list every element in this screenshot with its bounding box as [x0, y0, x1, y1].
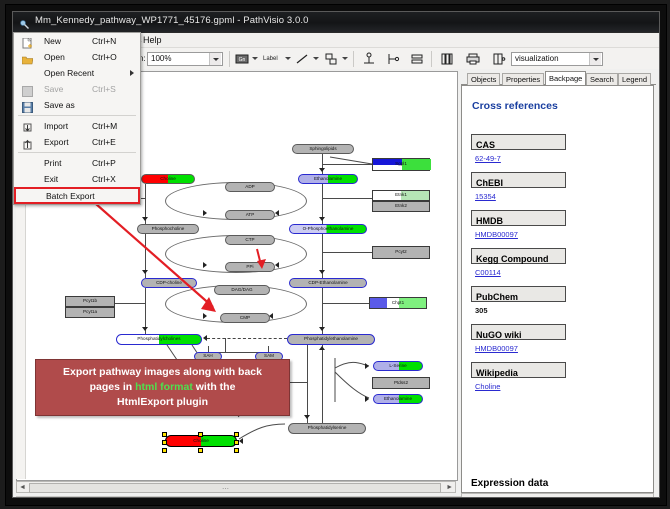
arrow-icon	[239, 438, 243, 444]
save-as-icon	[22, 100, 33, 111]
sidepanel-icon[interactable]	[491, 51, 507, 67]
datanode-dropdown-icon[interactable]	[252, 57, 258, 60]
screenshot-root: Mm_Kennedy_pathway_WP1771_45176.gpml - P…	[0, 0, 670, 509]
shape-tool-icon[interactable]	[323, 51, 339, 67]
menu-help[interactable]: Help	[140, 34, 165, 46]
xref-header-pubchem: PubChem	[471, 286, 566, 302]
line-dropdown-icon[interactable]	[313, 57, 319, 60]
menu-item-export[interactable]: Export Ctrl+E	[14, 134, 140, 150]
menu-separator	[18, 115, 136, 116]
metabolite-node[interactable]: O-Phosphoethanolamine	[289, 224, 367, 234]
align-top-icon[interactable]	[361, 51, 377, 67]
arrow-icon	[365, 363, 369, 369]
metabolite-node[interactable]: CTP	[225, 235, 275, 245]
new-file-icon	[22, 36, 33, 47]
backpage-content: Cross references CAS 62-49-7 ChEBI 15354…	[461, 85, 654, 493]
svg-text:Gn: Gn	[239, 57, 246, 63]
expression-data-heading: Expression data	[471, 478, 548, 489]
metabolite-node[interactable]: Phosphatidylcholines	[116, 334, 202, 345]
tab-properties[interactable]: Properties	[502, 73, 544, 85]
zoom-value: 100%	[151, 54, 171, 63]
xref-header-wikipedia: Wikipedia	[471, 362, 566, 378]
scroll-right-icon[interactable]: ►	[446, 484, 453, 491]
metabolite-node[interactable]: DAG/DAG	[214, 285, 270, 295]
gene-node[interactable]: Pcyt2	[372, 246, 430, 259]
metabolite-node[interactable]: ADP	[225, 182, 275, 192]
save-icon	[22, 84, 33, 95]
callout-line3: HtmlExport plugin	[117, 396, 208, 408]
xref-value-wikipedia[interactable]: Choline	[475, 382, 500, 391]
xref-header-chebi: ChEBI	[471, 172, 566, 188]
tab-search[interactable]: Search	[586, 73, 618, 85]
menu-item-save-as[interactable]: Save as	[14, 97, 140, 113]
menu-item-open-recent[interactable]: Open Recent	[14, 65, 140, 81]
gene-node[interactable]: Etnk2	[372, 201, 430, 212]
workspace: Sphingolipids Choline Ethanolamine ADP A…	[13, 69, 659, 497]
xref-value-pubchem: 305	[475, 306, 488, 315]
title-bar: Mm_Kennedy_pathway_WP1771_45176.gpml - P…	[13, 12, 659, 33]
menu-item-new[interactable]: New Ctrl+N	[14, 33, 140, 49]
metabolite-node[interactable]: CMP	[220, 313, 270, 323]
gene-node[interactable]: Chpt1	[369, 297, 427, 309]
xref-header-cas: CAS	[471, 134, 566, 150]
callout-text: Export pathway images along with back pa…	[63, 365, 262, 410]
metabolite-node[interactable]: PPi	[225, 262, 275, 272]
callout-line2-b: with the	[193, 381, 236, 393]
callout-highlight: html format	[135, 381, 193, 393]
callout-line1: Export pathway images along with back	[63, 366, 262, 378]
metabolite-node[interactable]: Phosphatidylethanolamine	[287, 334, 375, 345]
xref-value-nugo[interactable]: HMDB00097	[475, 344, 518, 353]
gene-node[interactable]: Sgpl1	[372, 158, 430, 171]
callout-line2-a: pages in	[90, 381, 136, 393]
gene-node[interactable]: Ptdss2	[372, 377, 430, 389]
label-dropdown-icon[interactable]	[285, 57, 291, 60]
datanode-tool-icon[interactable]: Gn	[234, 51, 250, 67]
tab-objects[interactable]: Objects	[467, 73, 500, 85]
toolbar-separator-2	[229, 51, 230, 67]
export-icon	[22, 137, 33, 148]
toolbar-separator-4	[431, 51, 432, 67]
menu-item-save: Save Ctrl+S	[14, 81, 140, 97]
annotation-callout: Export pathway images along with back pa…	[35, 359, 290, 416]
xref-value-cas[interactable]: 62-49-7	[475, 154, 501, 163]
xref-value-kegg[interactable]: C00114	[475, 268, 501, 277]
menu-separator-2	[18, 152, 136, 153]
gene-node[interactable]: Pcyt1b	[65, 296, 115, 307]
tab-backpage[interactable]: Backpage	[545, 71, 586, 85]
print-icon[interactable]	[465, 51, 481, 67]
line-tool-icon[interactable]	[294, 51, 310, 67]
gene-node[interactable]: Etnk1	[372, 190, 430, 201]
pathvisio-icon	[19, 17, 30, 28]
backpage-hscrollbar[interactable]	[461, 493, 654, 498]
open-folder-icon	[22, 52, 33, 63]
menu-item-import[interactable]: Import Ctrl+M	[14, 118, 140, 134]
arrow-icon	[365, 396, 369, 402]
metabolite-node[interactable]: Ethanolamine	[373, 394, 423, 404]
metabolite-node[interactable]: Sphingolipids	[292, 144, 354, 154]
menu-item-exit[interactable]: Exit Ctrl+X	[14, 171, 140, 187]
menu-item-open[interactable]: Open Ctrl+O	[14, 49, 140, 65]
metabolite-node[interactable]: Phosphatidylserine	[288, 423, 366, 434]
chevron-right-icon	[130, 70, 134, 76]
metabolite-node[interactable]: Phosphocholine	[137, 224, 199, 234]
chevron-down-icon-2	[589, 53, 601, 65]
scroll-left-icon[interactable]: ◄	[19, 484, 26, 491]
file-menu-dropdown[interactable]: New Ctrl+N Open Ctrl+O Open Recent Save …	[13, 32, 141, 205]
menu-item-batch-export[interactable]: Batch Export	[14, 187, 140, 204]
canvas-hscrollbar[interactable]: ◄ ⋯ ►	[16, 481, 456, 493]
label-tool-icon[interactable]: Label	[263, 56, 278, 62]
align-left-icon[interactable]	[385, 51, 401, 67]
hscroll-grip: ⋯	[222, 485, 230, 493]
metabolite-node[interactable]: Ethanolamine	[298, 174, 358, 184]
xref-header-kegg: Kegg Compound	[471, 248, 566, 264]
visualization-combo[interactable]: visualization	[511, 52, 603, 66]
xref-header-hmdb: HMDB	[471, 210, 566, 226]
tab-legend[interactable]: Legend	[618, 73, 651, 85]
metabolite-node[interactable]: L-Serine	[373, 361, 423, 371]
metabolite-node[interactable]: CDP-choline	[141, 278, 197, 288]
xref-value-chebi[interactable]: 15354	[475, 192, 496, 201]
menu-item-print[interactable]: Print Ctrl+P	[14, 155, 140, 171]
metabolite-node[interactable]: ATP	[225, 210, 275, 220]
right-panel: Objects Properties Backpage Search Legen…	[461, 71, 656, 498]
metabolite-node[interactable]: Choline	[141, 174, 195, 184]
xref-value-hmdb[interactable]: HMDB00097	[475, 230, 518, 239]
shape-dropdown-icon[interactable]	[342, 57, 348, 60]
pathvisio-window: Mm_Kennedy_pathway_WP1771_45176.gpml - P…	[12, 11, 660, 498]
visualization-value: visualization	[515, 54, 559, 63]
gene-node[interactable]: Pcyt1a	[65, 307, 115, 318]
toolbar-separator-3	[353, 51, 354, 67]
xref-header-nugo: NuGO wiki	[471, 324, 566, 340]
cross-references-heading: Cross references	[472, 100, 558, 112]
metabolite-node[interactable]: CDP-Ethanolamine	[289, 278, 367, 288]
hscroll-thumb[interactable]	[29, 483, 441, 493]
zoom-combo[interactable]: 100%	[147, 52, 223, 66]
chevron-down-icon	[209, 53, 221, 65]
import-icon	[22, 121, 33, 132]
stack-icon[interactable]	[409, 51, 425, 67]
window-title: Mm_Kennedy_pathway_WP1771_45176.gpml - P…	[35, 15, 309, 26]
columns-icon[interactable]	[439, 51, 455, 67]
panel-tabs: Objects Properties Backpage Search Legen…	[461, 71, 656, 85]
